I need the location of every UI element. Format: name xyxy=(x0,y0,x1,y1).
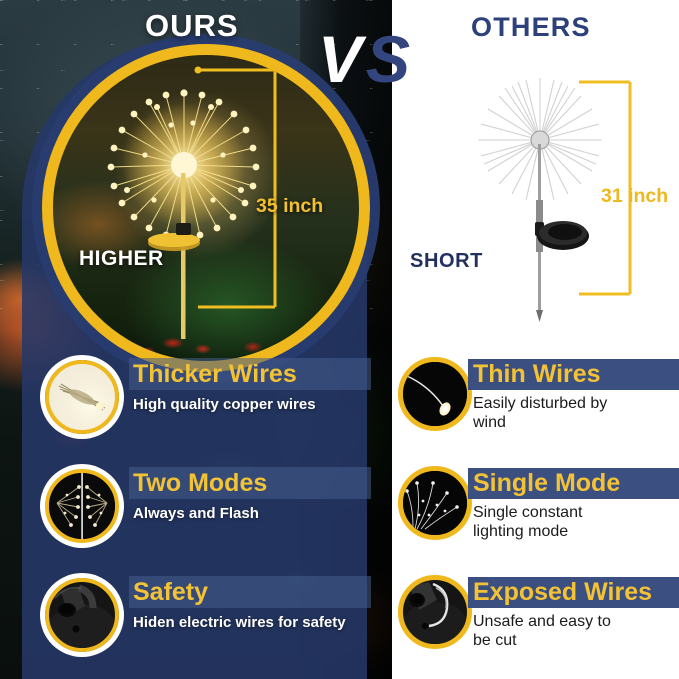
others-title: OTHERS xyxy=(471,12,591,43)
ours-height-label: 35 inch xyxy=(256,195,323,218)
right-feature-row-exposed-wires: Exposed Wires Unsafe and easy to be cut xyxy=(398,575,679,670)
left-feature-row-safety: Safety Hiden electric wires for safety xyxy=(41,574,371,669)
vs-badge: V S xyxy=(318,22,438,97)
feature-title: Thin Wires xyxy=(473,360,601,389)
feature-title: Single Mode xyxy=(473,469,620,498)
higher-label: HIGHER xyxy=(79,247,164,271)
feature-subtitle: Hiden electric wires for safety xyxy=(133,614,358,632)
thin-wire-closeup-icon xyxy=(398,357,472,431)
feature-title: Two Modes xyxy=(133,469,267,498)
ours-title: OURS xyxy=(145,8,239,44)
feature-subtitle: Unsafe and easy to be cut xyxy=(473,613,679,651)
vs-letter-s: S xyxy=(366,22,410,96)
right-feature-row-thin-wires: Thin Wires Easily disturbed by wind xyxy=(398,357,679,447)
feature-subtitle: High quality copper wires xyxy=(133,396,383,414)
feature-title: Thicker Wires xyxy=(133,360,297,389)
comparison-infographic: HIGHER 35 inch OURS V S OTHERS xyxy=(0,0,679,679)
short-label: SHORT xyxy=(410,250,483,273)
feature-subtitle: Single constant lighting mode xyxy=(473,504,679,542)
left-feature-row-thicker-wires: Thicker Wires High quality copper wires xyxy=(41,356,371,446)
two-lighting-modes-icon xyxy=(45,469,119,543)
others-height-label: 31 inch xyxy=(601,185,668,208)
left-feature-row-two-modes: Two Modes Always and Flash xyxy=(41,465,371,555)
exposed-wire-base-icon xyxy=(398,575,472,649)
feature-title: Safety xyxy=(133,578,208,607)
single-lighting-mode-icon xyxy=(398,466,472,540)
feature-subtitle: Easily disturbed by wind xyxy=(473,395,679,433)
feature-subtitle: Always and Flash xyxy=(133,505,383,523)
copper-wire-closeup-icon xyxy=(45,360,119,434)
hidden-wire-base-icon xyxy=(45,578,119,652)
right-feature-row-single-mode: Single Mode Single constant lighting mod… xyxy=(398,466,679,556)
vs-letter-v: V xyxy=(318,22,359,96)
feature-title: Exposed Wires xyxy=(473,578,652,607)
